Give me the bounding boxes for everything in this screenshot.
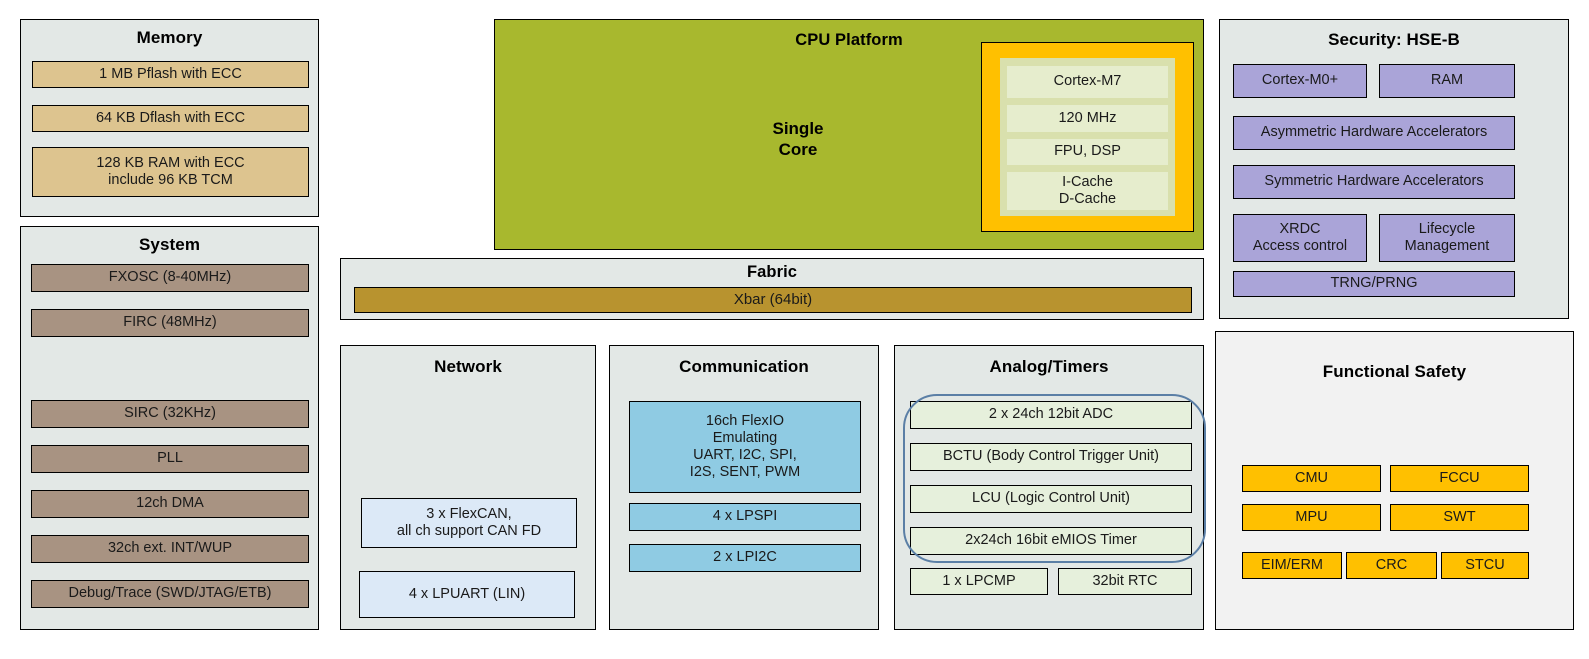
system-group-title: System — [21, 235, 318, 255]
analog-item-adc[interactable]: 2 x 24ch 12bit ADC — [910, 401, 1192, 429]
cpu-platform-group: CPU Platform Single Core Cortex-M7 120 M… — [494, 19, 1204, 250]
safety-item-cmu[interactable]: CMU — [1242, 465, 1381, 492]
communication-group: Communication 16ch FlexIO Emulating UART… — [609, 345, 879, 630]
security-item-ram[interactable]: RAM — [1379, 64, 1515, 98]
safety-item-swt[interactable]: SWT — [1390, 504, 1529, 531]
fabric-group: Fabric Xbar (64bit) — [340, 258, 1204, 320]
functional-safety-group-title: Functional Safety — [1216, 362, 1573, 382]
security-item-symmetric-accelerators[interactable]: Symmetric Hardware Accelerators — [1233, 165, 1515, 199]
memory-item-ram[interactable]: 128 KB RAM with ECC include 96 KB TCM — [32, 147, 309, 197]
cpu-core-count-label: Single Core — [743, 118, 853, 161]
memory-item-dflash[interactable]: 64 KB Dflash with ECC — [32, 105, 309, 132]
security-group-title: Security: HSE-B — [1220, 30, 1568, 50]
safety-item-mpu[interactable]: MPU — [1242, 504, 1381, 531]
system-group: System FXOSC (8-40MHz) FIRC (48MHz) SIRC… — [20, 226, 319, 630]
security-item-trng-prng[interactable]: TRNG/PRNG — [1233, 271, 1515, 297]
analog-timers-group-title: Analog/Timers — [895, 357, 1203, 377]
security-item-lifecycle-management[interactable]: Lifecycle Management — [1379, 214, 1515, 262]
security-group: Security: HSE-B Cortex-M0+ RAM Asymmetri… — [1219, 19, 1569, 319]
core-line-cortex-m7[interactable]: Cortex-M7 — [1007, 66, 1168, 98]
network-item-lpuart[interactable]: 4 x LPUART (LIN) — [359, 571, 575, 618]
network-group-title: Network — [341, 357, 595, 377]
analog-item-lpcmp[interactable]: 1 x LPCMP — [910, 568, 1048, 595]
core-line-caches[interactable]: I-Cache D-Cache — [1007, 172, 1168, 210]
fabric-group-title: Fabric — [341, 263, 1203, 282]
memory-group: Memory 1 MB Pflash with ECC 64 KB Dflash… — [20, 19, 319, 217]
system-item-debug-trace[interactable]: Debug/Trace (SWD/JTAG/ETB) — [31, 580, 309, 608]
safety-item-fccu[interactable]: FCCU — [1390, 465, 1529, 492]
system-item-dma[interactable]: 12ch DMA — [31, 490, 309, 518]
fabric-xbar-bus[interactable]: Xbar (64bit) — [354, 287, 1192, 313]
system-item-ext-int-wup[interactable]: 32ch ext. INT/WUP — [31, 535, 309, 563]
communication-item-lpi2c[interactable]: 2 x LPI2C — [629, 544, 861, 572]
safety-item-eim-erm[interactable]: EIM/ERM — [1242, 552, 1342, 579]
functional-safety-group: Functional Safety CMU FCCU MPU SWT EIM/E… — [1215, 331, 1574, 630]
system-item-firc[interactable]: FIRC (48MHz) — [31, 309, 309, 337]
analog-item-emios[interactable]: 2x24ch 16bit eMIOS Timer — [910, 527, 1192, 555]
communication-group-title: Communication — [610, 357, 878, 377]
system-item-fxosc[interactable]: FXOSC (8-40MHz) — [31, 264, 309, 292]
block-diagram-canvas: Memory 1 MB Pflash with ECC 64 KB Dflash… — [0, 0, 1589, 659]
security-item-xrdc[interactable]: XRDC Access control — [1233, 214, 1367, 262]
network-item-flexcan[interactable]: 3 x FlexCAN, all ch support CAN FD — [361, 498, 577, 548]
core-line-frequency[interactable]: 120 MHz — [1007, 105, 1168, 132]
core-line-fpu-dsp[interactable]: FPU, DSP — [1007, 139, 1168, 165]
analog-item-lcu[interactable]: LCU (Logic Control Unit) — [910, 485, 1192, 513]
safety-item-crc[interactable]: CRC — [1346, 552, 1437, 579]
memory-group-title: Memory — [21, 28, 318, 48]
memory-item-pflash[interactable]: 1 MB Pflash with ECC — [32, 61, 309, 88]
security-item-asymmetric-accelerators[interactable]: Asymmetric Hardware Accelerators — [1233, 116, 1515, 150]
analog-item-rtc[interactable]: 32bit RTC — [1058, 568, 1192, 595]
analog-timers-group: Analog/Timers 2 x 24ch 12bit ADC BCTU (B… — [894, 345, 1204, 630]
analog-item-bctu[interactable]: BCTU (Body Control Trigger Unit) — [910, 443, 1192, 471]
communication-item-flexio[interactable]: 16ch FlexIO Emulating UART, I2C, SPI, I2… — [629, 401, 861, 493]
security-item-cortex-m0[interactable]: Cortex-M0+ — [1233, 64, 1367, 98]
network-group: Network 3 x FlexCAN, all ch support CAN … — [340, 345, 596, 630]
system-item-pll[interactable]: PLL — [31, 445, 309, 473]
system-item-sirc[interactable]: SIRC (32KHz) — [31, 400, 309, 428]
communication-item-lpspi[interactable]: 4 x LPSPI — [629, 503, 861, 531]
safety-item-stcu[interactable]: STCU — [1441, 552, 1529, 579]
